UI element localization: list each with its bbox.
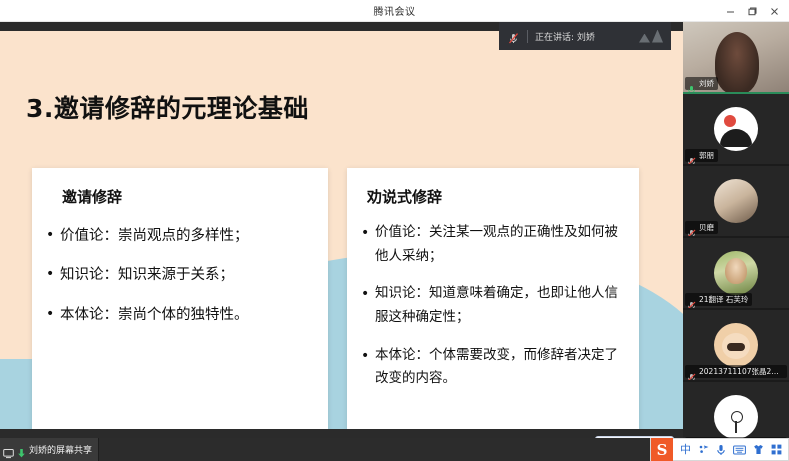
avatar <box>714 107 758 151</box>
participant-tile[interactable]: 刘娇 <box>683 22 789 94</box>
bullet-list: 价值论：关注某一观点的正确性及如何被他人采纳； 知识论：知道意味着确定，也即让他… <box>361 221 625 391</box>
mic-muted-icon <box>687 223 696 232</box>
ime-skin-button[interactable] <box>753 444 764 455</box>
window-titlebar: 腾讯会议 <box>0 0 789 22</box>
minimize-button[interactable] <box>719 1 741 21</box>
card-heading: 邀请修辞 <box>62 186 314 207</box>
mic-muted-icon <box>687 295 696 304</box>
participant-avatar-wrap <box>683 382 789 438</box>
avatar <box>714 323 758 367</box>
card-invitational-rhetoric: 邀请修辞 价值论：崇尚观点的多样性； 知识论：知识来源于关系； 本体论：崇尚个体… <box>32 168 328 429</box>
audio-wave-icon <box>639 30 663 43</box>
ime-floating-toolbar[interactable]: ◎ 中 ✾ <box>595 436 674 438</box>
chip-divider <box>527 30 528 43</box>
avatar <box>714 251 758 295</box>
bullet-list: 价值论：崇尚观点的多样性； 知识论：知识来源于关系； 本体论：崇尚个体的独特性。 <box>46 225 314 326</box>
bullet-item: 本体论：个体需要改变，而修辞者决定了改变的内容。 <box>361 344 625 391</box>
bullet-item: 价值论：关注某一观点的正确性及如何被他人采纳； <box>361 221 625 268</box>
slide-title: 3.邀请修辞的元理论基础 <box>26 89 309 125</box>
sogou-ime-toolbar[interactable]: S 中 <box>650 438 789 461</box>
active-speaker-chip: 正在讲话: 刘娇 <box>499 22 671 50</box>
avatar <box>714 395 758 438</box>
participant-tile[interactable]: 20213711107张晶21英语... <box>683 310 789 382</box>
presentation-slide: 3.邀请修辞的元理论基础 邀请修辞 价值论：崇尚观点的多样性； 知识论：知识来源… <box>0 31 683 429</box>
screen-share-icon <box>3 444 14 455</box>
participant-name: 21翻译 石芙玲 <box>699 294 748 305</box>
window-title: 腾讯会议 <box>374 3 416 18</box>
sogou-logo-icon[interactable]: S <box>651 438 673 461</box>
participant-name-chip: 刘娇 <box>685 77 718 90</box>
active-speaker-label: 正在讲话: 刘娇 <box>535 30 595 43</box>
ime-soft-keyboard-button[interactable] <box>733 445 746 455</box>
participant-name: 20213711107张晶21英语... <box>699 366 783 377</box>
ime-punctuation-button[interactable] <box>698 444 709 455</box>
card-heading: 劝说式修辞 <box>367 186 625 207</box>
windows-taskbar: 刘娇的屏幕共享 S 中 <box>0 438 789 461</box>
mic-muted-icon <box>687 367 696 376</box>
mic-muted-icon <box>507 30 520 43</box>
card-persuasive-rhetoric: 劝说式修辞 价值论：关注某一观点的正确性及如何被他人采纳； 知识论：知道意味着确… <box>347 168 639 429</box>
bullet-item: 本体论：崇尚个体的独特性。 <box>46 304 314 326</box>
ime-language-mode-button[interactable]: 中 <box>680 444 691 455</box>
participant-name: 贝磨 <box>699 222 714 233</box>
taskbar-item-screen-share[interactable]: 刘娇的屏幕共享 <box>0 438 99 461</box>
mic-on-icon <box>687 79 696 88</box>
participant-thumbnail-strip[interactable]: 刘娇 郭朋 <box>683 22 789 438</box>
window-controls <box>719 0 785 22</box>
ime-voice-input-button[interactable] <box>716 444 726 456</box>
participant-tile[interactable]: 20213711328杨雯涵21翻译 <box>683 382 789 438</box>
mic-muted-icon <box>687 151 696 160</box>
participant-tile[interactable]: 郭朋 <box>683 94 789 166</box>
participant-name-chip: 贝磨 <box>685 221 718 234</box>
participant-name-chip: 21翻译 石芙玲 <box>685 293 752 306</box>
taskbar-item-label: 刘娇的屏幕共享 <box>29 443 92 456</box>
close-button[interactable] <box>763 1 785 21</box>
ime-toolbox-button[interactable] <box>771 444 782 455</box>
tencent-meeting-window: 腾讯会议 <box>0 0 789 461</box>
participant-name: 郭朋 <box>699 150 714 161</box>
bullet-item: 知识论：知识来源于关系； <box>46 264 314 286</box>
participant-name-chip: 20213711107张晶21英语... <box>685 365 787 378</box>
participant-tile[interactable]: 21翻译 石芙玲 <box>683 238 789 310</box>
bullet-item: 知识论：知道意味着确定，也即让他人信服这种确定性； <box>361 282 625 329</box>
maximize-restore-button[interactable] <box>741 1 763 21</box>
participant-name-chip: 郭朋 <box>685 149 718 162</box>
avatar <box>714 179 758 223</box>
bullet-item: 价值论：崇尚观点的多样性； <box>46 225 314 247</box>
screen-share-stage[interactable]: 3.邀请修辞的元理论基础 邀请修辞 价值论：崇尚观点的多样性； 知识论：知识来源… <box>0 22 683 438</box>
meeting-body: 3.邀请修辞的元理论基础 邀请修辞 价值论：崇尚观点的多样性； 知识论：知识来源… <box>0 22 789 438</box>
download-arrow-icon <box>17 444 26 455</box>
participant-name: 刘娇 <box>699 78 714 89</box>
participant-tile[interactable]: 贝磨 <box>683 166 789 238</box>
